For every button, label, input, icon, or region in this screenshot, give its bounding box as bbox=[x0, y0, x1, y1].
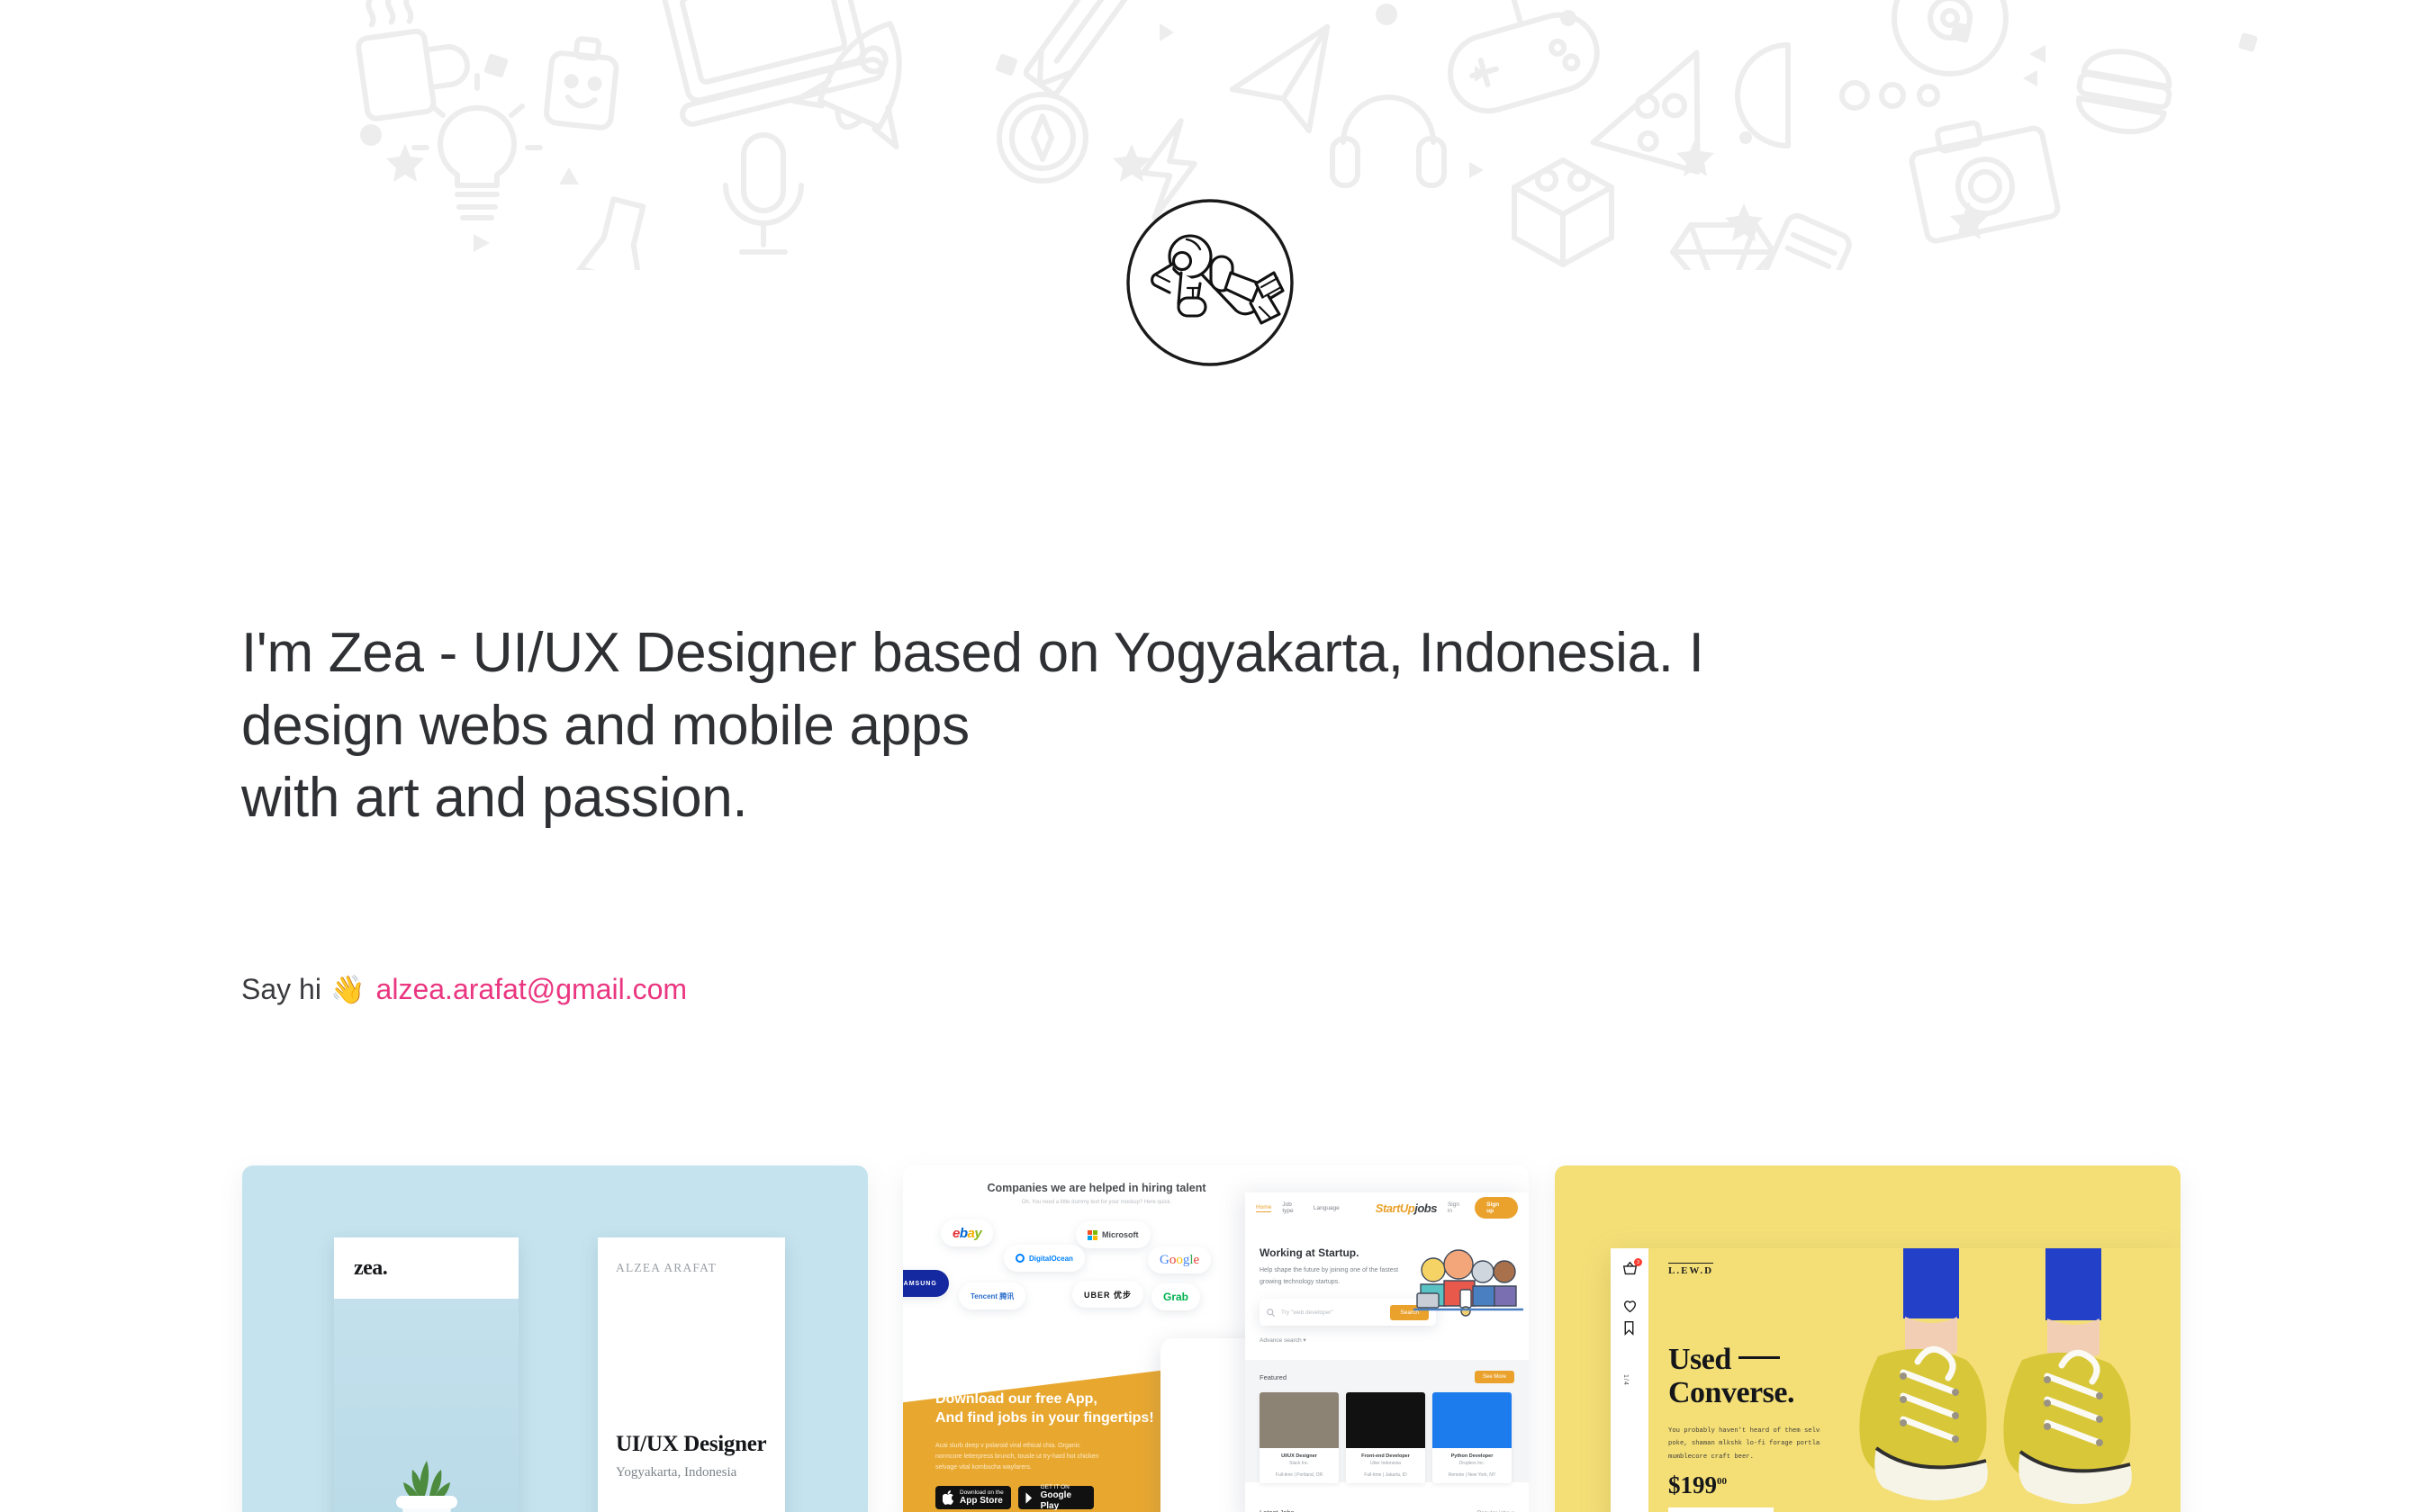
job-title: Front-end Developer bbox=[1350, 1453, 1421, 1459]
card-location: Yogyakarta, Indonesia bbox=[616, 1465, 736, 1480]
smartphone-icon bbox=[1744, 212, 1852, 270]
shop-side-rail: 3 1/4 bbox=[1611, 1248, 1648, 1512]
flask-icon bbox=[557, 193, 671, 270]
job-search-placeholder: Try "web developer" bbox=[1281, 1309, 1384, 1316]
job-card[interactable]: Front-end Developer Uber Indonesia Full-… bbox=[1346, 1392, 1425, 1483]
contact-line: Say hi 👋 alzea.arafat@gmail.com bbox=[241, 975, 687, 1003]
burger-icon bbox=[2072, 45, 2175, 139]
job-meta: Full-time | Portland, OR bbox=[1264, 1472, 1334, 1478]
lewd-brand-logo: L.EW.D bbox=[1668, 1263, 1713, 1276]
diamond-icon bbox=[1673, 225, 1774, 270]
nav-item-home[interactable]: Home bbox=[1256, 1204, 1271, 1212]
companies-title: Companies we are helped in hiring talent bbox=[903, 1182, 1290, 1194]
plant-photo bbox=[334, 1299, 519, 1512]
paper-plane-icon bbox=[1224, 27, 1344, 142]
email-link[interactable]: alzea.arafat@gmail.com bbox=[376, 975, 688, 1003]
sj-hero-title: Working at Startup. bbox=[1260, 1246, 1359, 1259]
coffee-mug-icon bbox=[352, 0, 473, 120]
title-dash bbox=[1738, 1356, 1780, 1359]
job-search-bar[interactable]: Try "web developer" Search bbox=[1260, 1299, 1436, 1326]
headline-line-2: design webs and mobile apps bbox=[241, 690, 2042, 763]
rocket-icon bbox=[793, 1, 941, 149]
job-title: UI/UX Designer bbox=[1264, 1453, 1334, 1459]
logo-chip-grab: Grab bbox=[1151, 1283, 1200, 1310]
lego-brick-icon bbox=[1514, 160, 1612, 265]
search-icon bbox=[1267, 1309, 1275, 1317]
job-thumbnail bbox=[1346, 1392, 1425, 1448]
logo-chip-tencent: Tencent 腾讯 bbox=[959, 1282, 1025, 1309]
gamepad-icon bbox=[1429, 0, 1606, 120]
logo-part-a: StartUp bbox=[1376, 1201, 1414, 1215]
waving-hand-icon: 👋 bbox=[330, 976, 366, 1003]
job-meta: Remote | New York, NY bbox=[1437, 1472, 1507, 1478]
product-price: $19900 bbox=[1668, 1471, 1727, 1499]
business-card-back: ALZEA ARAFAT UI/UX Designer Yogyakarta, … bbox=[598, 1237, 785, 1512]
startupjobs-app-window: Home Job type Language StartUpjobs Sign … bbox=[1245, 1192, 1529, 1512]
app-store-top: Download on the bbox=[960, 1489, 1004, 1496]
laptop-icon bbox=[651, 0, 884, 126]
job-company: Slack Inc. bbox=[1264, 1461, 1334, 1466]
play-store-top: GET IT ON bbox=[1041, 1484, 1087, 1490]
google-play-icon bbox=[1025, 1491, 1036, 1505]
pacman-icon bbox=[1738, 45, 1788, 146]
featured-jobs-section: Featured See More UI/UX Designer Slack I… bbox=[1245, 1360, 1529, 1482]
pacman-dot-icon bbox=[1842, 83, 1937, 108]
latest-jobs-label: Latest Jobs bbox=[1260, 1508, 1294, 1512]
business-card-front: zea. bbox=[334, 1237, 519, 1512]
job-thumbnail bbox=[1432, 1392, 1512, 1448]
logo-chip-google: Google bbox=[1148, 1246, 1211, 1273]
project-grid: zea. bbox=[0, 1165, 2420, 1512]
zea-logo-text: zea. bbox=[354, 1256, 387, 1281]
logo-chip-ebay: ebay bbox=[941, 1219, 993, 1246]
job-company: Dropbox Inc. bbox=[1437, 1461, 1507, 1466]
heart-icon[interactable] bbox=[1622, 1299, 1638, 1314]
team-illustration bbox=[1412, 1245, 1525, 1317]
logo-chip-digitalocean: DigitalOcean bbox=[1004, 1245, 1085, 1272]
page-title: I'm Zea - UI/UX Designer based on Yogyak… bbox=[241, 617, 2042, 835]
compass-icon bbox=[999, 94, 1086, 181]
project-card-startupjobs[interactable]: Companies we are helped in hiring talent… bbox=[903, 1165, 1529, 1512]
apple-icon bbox=[943, 1490, 955, 1505]
bookmark-icon[interactable] bbox=[1622, 1320, 1636, 1336]
app-promo-headline: Download our free App, And find jobs in … bbox=[935, 1390, 1154, 1428]
job-card[interactable]: Python Developer Dropbox Inc. Remote | N… bbox=[1432, 1392, 1512, 1483]
featured-job-list: UI/UX Designer Slack Inc. Full-time | Po… bbox=[1260, 1392, 1514, 1483]
app-store-button[interactable]: Download on the App Store bbox=[935, 1486, 1011, 1509]
zea-logo: zea. bbox=[334, 1237, 519, 1299]
featured-label: Featured bbox=[1260, 1373, 1287, 1381]
startupjobs-logo: StartUpjobs bbox=[1376, 1201, 1437, 1215]
startupjobs-navbar: Home Job type Language StartUpjobs Sign … bbox=[1245, 1192, 1529, 1223]
product-title-line2: Converse. bbox=[1668, 1376, 1794, 1409]
astronaut-badge-icon[interactable] bbox=[1124, 197, 1296, 368]
google-play-button[interactable]: GET IT ON Google Play bbox=[1018, 1486, 1094, 1509]
potted-plant-icon bbox=[384, 1446, 470, 1512]
headline-line-1: I'm Zea - UI/UX Designer based on Yogyak… bbox=[241, 617, 2042, 690]
camera-icon bbox=[1907, 109, 2060, 242]
price-cents: 00 bbox=[1717, 1476, 1727, 1487]
add-to-cart-button[interactable]: ADD TO CART bbox=[1668, 1507, 1774, 1512]
carousel-pagination[interactable]: 1/4 bbox=[1622, 1374, 1629, 1386]
companies-subtitle: Oh. You need a little dummy text for you… bbox=[903, 1200, 1290, 1205]
job-card[interactable]: UI/UX Designer Slack Inc. Full-time | Po… bbox=[1260, 1392, 1339, 1483]
microsoft-icon bbox=[1088, 1230, 1097, 1240]
promo-line-2: And find jobs in your fingertips! bbox=[935, 1410, 1154, 1426]
lewd-shop-window: 3 1/4 L.EW.D Used Converse. bbox=[1611, 1248, 2181, 1512]
pencil-icon bbox=[1025, 0, 1134, 95]
see-more-button[interactable]: See More bbox=[1475, 1371, 1514, 1383]
promo-line-1: Download our free App, bbox=[935, 1391, 1097, 1407]
lightbulb-icon bbox=[414, 76, 540, 218]
sj-hero-body: Help shape the future by joining one of … bbox=[1260, 1264, 1404, 1289]
lego-head-icon bbox=[546, 36, 619, 129]
card-role: UI/UX Designer bbox=[616, 1432, 766, 1457]
advance-search-toggle[interactable]: Advance search ▾ bbox=[1260, 1336, 1306, 1344]
sign-up-button[interactable]: Sign up bbox=[1475, 1197, 1518, 1219]
cd-disc-icon bbox=[1894, 0, 2006, 74]
job-title: Python Developer bbox=[1437, 1453, 1507, 1459]
portfolio-page: I'm Zea - UI/UX Designer based on Yogyak… bbox=[0, 0, 2420, 1512]
nav-item-language[interactable]: Language bbox=[1314, 1205, 1340, 1211]
converse-shoes-photo bbox=[1820, 1248, 2181, 1512]
price-amount: $199 bbox=[1668, 1471, 1717, 1498]
pagination-label: 1/4 bbox=[1622, 1374, 1629, 1386]
job-company: Uber Indonesia bbox=[1350, 1461, 1421, 1466]
cart-count-badge: 3 bbox=[1634, 1258, 1642, 1266]
logo-chip-microsoft: Microsoft bbox=[1076, 1221, 1151, 1248]
product-description: You probably haven't heard of them selva… bbox=[1668, 1425, 1832, 1463]
card-owner-name: ALZEA ARAFAT bbox=[616, 1261, 767, 1275]
logo-part-b: jobs bbox=[1414, 1201, 1437, 1215]
app-promo-body: Acai slurb deep v polaroid viral ethical… bbox=[935, 1441, 1106, 1473]
say-hi-label: Say hi bbox=[241, 975, 321, 1003]
sign-in-link[interactable]: Sign in bbox=[1448, 1201, 1464, 1214]
pizza-icon bbox=[1591, 38, 1718, 172]
headphones-icon bbox=[1332, 97, 1444, 185]
star-icon bbox=[360, 4, 2258, 252]
headline-line-3: with art and passion. bbox=[241, 762, 2042, 835]
logo-chip-samsung: SAMSUNG bbox=[903, 1270, 949, 1297]
featured-header: Featured See More bbox=[1260, 1371, 1514, 1383]
startupjobs-landing: Companies we are helped in hiring talent… bbox=[903, 1165, 1290, 1512]
project-card-zea-branding[interactable]: zea. bbox=[242, 1165, 868, 1512]
project-card-lewd-ecommerce[interactable]: 3 1/4 L.EW.D Used Converse. bbox=[1555, 1165, 2181, 1512]
digitalocean-icon bbox=[1016, 1254, 1025, 1263]
advance-search-label: Advance search bbox=[1260, 1337, 1302, 1344]
play-store-name: Google Play bbox=[1041, 1490, 1087, 1511]
job-thumbnail bbox=[1260, 1392, 1339, 1448]
microphone-icon bbox=[726, 135, 801, 252]
product-title: Used Converse. bbox=[1668, 1344, 1794, 1409]
job-meta: Full-time | Jakarta, ID bbox=[1350, 1472, 1421, 1478]
logo-chip-uber: UBER 优步 bbox=[1072, 1281, 1143, 1308]
app-store-name: App Store bbox=[960, 1496, 1004, 1507]
nav-item-job-type[interactable]: Job type bbox=[1282, 1201, 1303, 1214]
product-title-line1: Used bbox=[1668, 1343, 1731, 1376]
product-hero: L.EW.D Used Converse. You probably haven… bbox=[1648, 1248, 2181, 1512]
